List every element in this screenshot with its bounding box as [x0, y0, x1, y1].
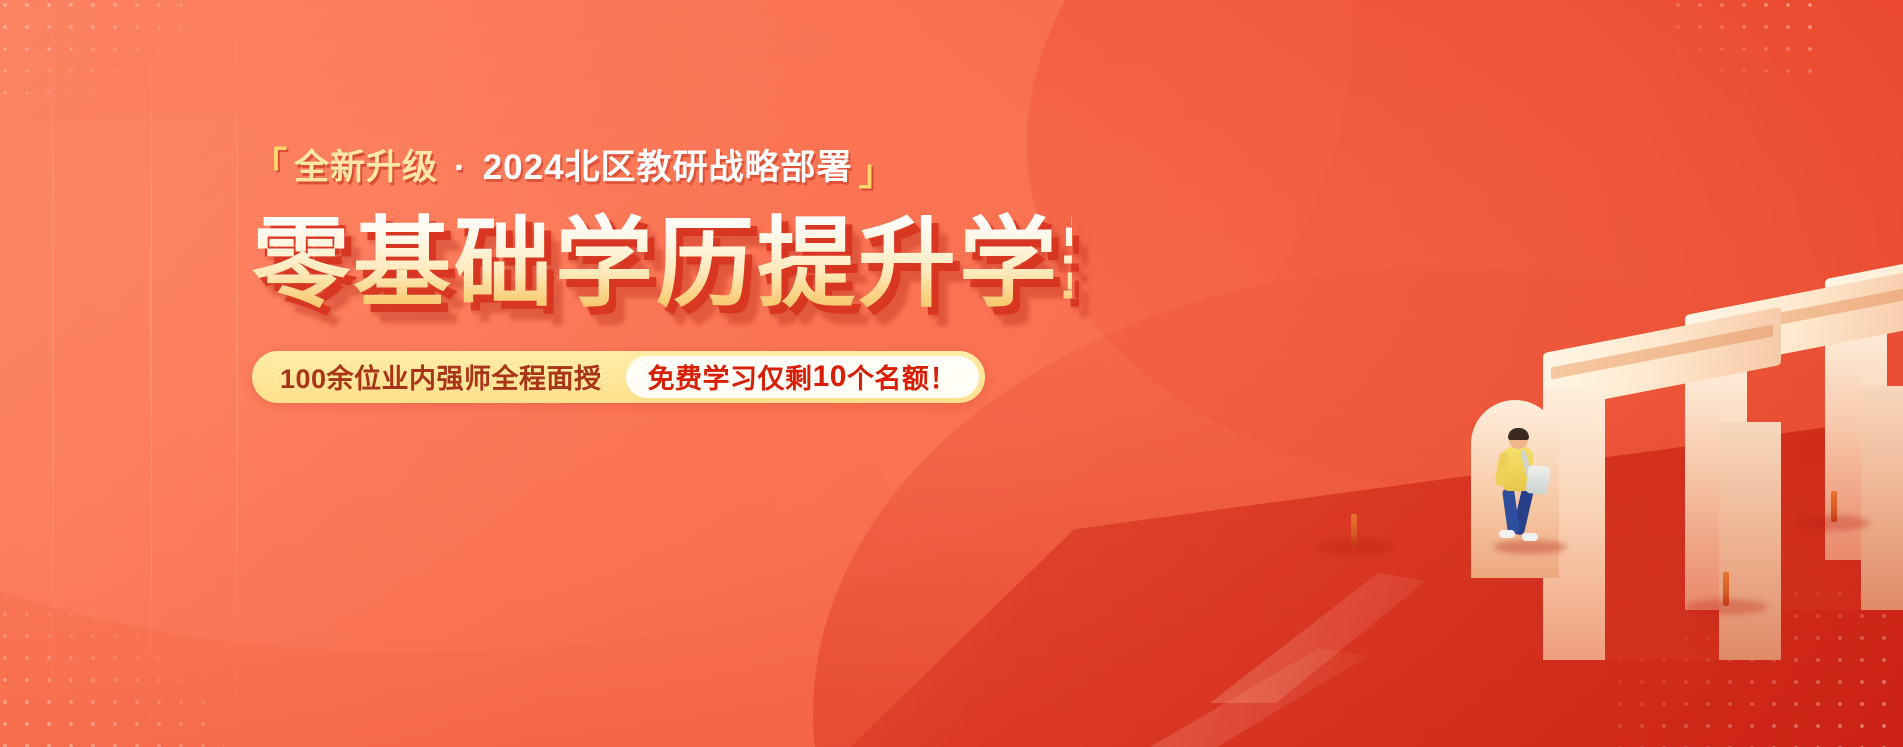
tree-canopy [1321, 438, 1387, 520]
promo-banner: 「 全新升级 · 2024北区教研战略部署 」 零基础学历提升学霸班 100余位… [0, 0, 1903, 747]
banner-feature-pill: 100余位业内强师全程面授 免费学习仅剩10个名额！ [252, 351, 985, 403]
dot-grid-bottom-left-icon [0, 603, 224, 747]
pill-highlight-suffix: 个名额！ [847, 357, 957, 396]
subtitle-bracket-left: 「 [252, 148, 288, 183]
pill-highlight-badge: 免费学习仅剩10个名额！ [626, 356, 979, 398]
pill-label: 100余位业内强师全程面授 [280, 357, 602, 396]
figure-shadow [1493, 540, 1567, 554]
illustration-tree-left [1321, 438, 1387, 546]
banner-headline: 零基础学历提升学霸班 [252, 211, 1072, 317]
figure-hair [1508, 428, 1529, 440]
banner-subtitle: 「 全新升级 · 2024北区教研战略部署 」 [252, 150, 1072, 185]
tree-canopy [1691, 494, 1761, 579]
pill-highlight-prefix: 免费学习仅剩 [648, 357, 813, 396]
illustration-student-figure [1491, 430, 1571, 555]
illustration-group [1003, 0, 1903, 747]
subtitle-gold-text: 全新升级 [294, 150, 438, 185]
tree-shadow [1315, 539, 1393, 555]
subtitle-bracket-right: 」 [859, 156, 895, 191]
pill-highlight-number: 10 [813, 360, 847, 394]
subtitle-white-text: 2024北区教研战略部署 [483, 150, 853, 185]
arch-right-leg [1861, 386, 1903, 610]
tree-shadow [1797, 515, 1870, 531]
banner-copy-block: 「 全新升级 · 2024北区教研战略部署 」 零基础学历提升学霸班 100余位… [252, 150, 1072, 403]
figure-right-shoe [1522, 533, 1538, 541]
illustration-tree-mid [1691, 494, 1761, 606]
figure-backpack [1526, 465, 1551, 495]
tree-canopy [1803, 420, 1865, 498]
background-light-band [236, 0, 238, 747]
tree-shadow [1685, 599, 1768, 615]
dot-grid-top-left-icon [0, 0, 184, 114]
figure-left-shoe [1499, 530, 1515, 538]
subtitle-separator: · [444, 150, 477, 185]
illustration-tree-right [1803, 420, 1865, 522]
